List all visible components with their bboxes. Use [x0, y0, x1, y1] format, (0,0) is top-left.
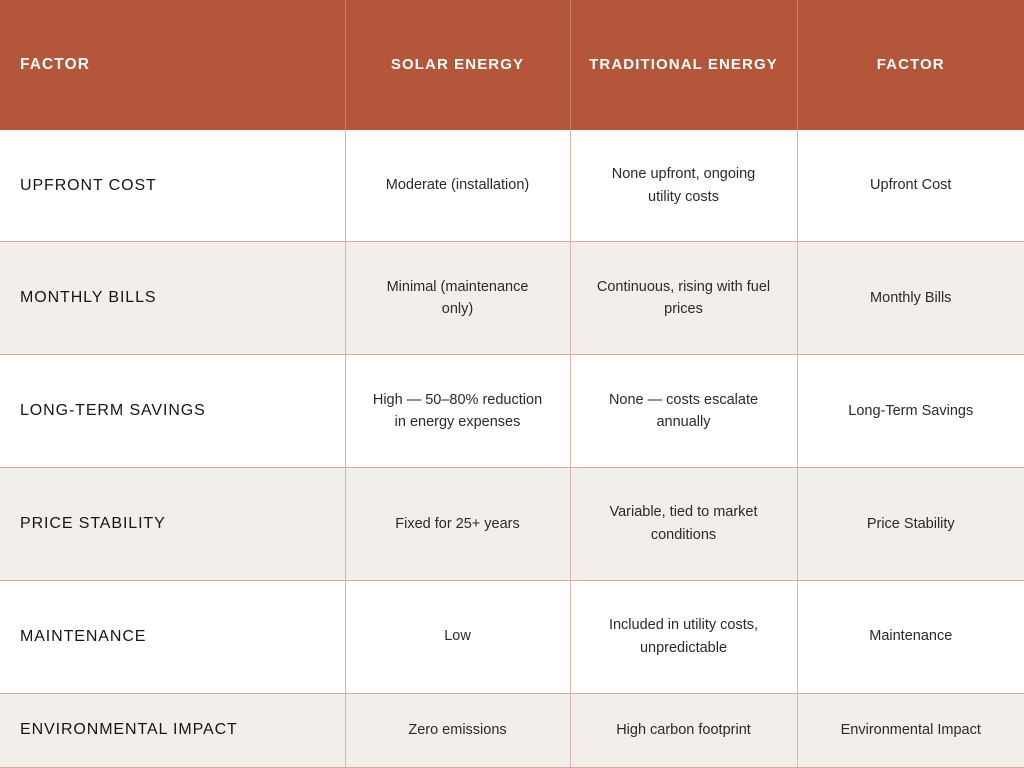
cell-factor: MAINTENANCE — [0, 580, 345, 693]
cell-solar-energy: Low — [345, 580, 570, 693]
cell-factor-2: Maintenance — [797, 580, 1024, 693]
cell-factor-2: Upfront Cost — [797, 130, 1024, 242]
cell-factor: LONG-TERM SAVINGS — [0, 355, 345, 468]
cell-traditional-energy: Variable, tied to market conditions — [570, 468, 797, 581]
cell-solar-energy: High — 50–80% reduction in energy expens… — [345, 355, 570, 468]
table-row: MAINTENANCE Low Included in utility cost… — [0, 580, 1024, 693]
table-row: PRICE STABILITY Fixed for 25+ years Vari… — [0, 468, 1024, 581]
header-row: FACTOR SOLAR ENERGY TRADITIONAL ENERGY F… — [0, 0, 1024, 130]
cell-factor-2: Price Stability — [797, 468, 1024, 581]
cell-traditional-energy: High carbon footprint — [570, 693, 797, 767]
table-header: FACTOR SOLAR ENERGY TRADITIONAL ENERGY F… — [0, 0, 1024, 130]
table-row: LONG-TERM SAVINGS High — 50–80% reductio… — [0, 355, 1024, 468]
cell-factor: ENVIRONMENTAL IMPACT — [0, 693, 345, 767]
cell-factor: UPFRONT COST — [0, 130, 345, 242]
table-row: ENVIRONMENTAL IMPACT Zero emissions High… — [0, 693, 1024, 767]
column-header-factor: FACTOR — [0, 0, 345, 130]
cell-traditional-energy: Continuous, rising with fuel prices — [570, 242, 797, 355]
cell-factor: MONTHLY BILLS — [0, 242, 345, 355]
cell-factor-2: Environmental Impact — [797, 693, 1024, 767]
cell-traditional-energy: None upfront, ongoing utility costs — [570, 130, 797, 242]
cell-solar-energy: Moderate (installation) — [345, 130, 570, 242]
cell-factor: PRICE STABILITY — [0, 468, 345, 581]
comparison-table: FACTOR SOLAR ENERGY TRADITIONAL ENERGY F… — [0, 0, 1024, 768]
cell-factor-2: Long-Term Savings — [797, 355, 1024, 468]
column-header-solar-energy: SOLAR ENERGY — [345, 0, 570, 130]
table-body: UPFRONT COST Moderate (installation) Non… — [0, 130, 1024, 768]
cell-solar-energy: Minimal (maintenance only) — [345, 242, 570, 355]
cell-solar-energy: Zero emissions — [345, 693, 570, 767]
table-row: UPFRONT COST Moderate (installation) Non… — [0, 130, 1024, 242]
column-header-traditional-energy: TRADITIONAL ENERGY — [570, 0, 797, 130]
table-row: MONTHLY BILLS Minimal (maintenance only)… — [0, 242, 1024, 355]
cell-solar-energy: Fixed for 25+ years — [345, 468, 570, 581]
column-header-factor-2: FACTOR — [797, 0, 1024, 130]
cell-traditional-energy: Included in utility costs, unpredictable — [570, 580, 797, 693]
cell-factor-2: Monthly Bills — [797, 242, 1024, 355]
cell-traditional-energy: None — costs escalate annually — [570, 355, 797, 468]
